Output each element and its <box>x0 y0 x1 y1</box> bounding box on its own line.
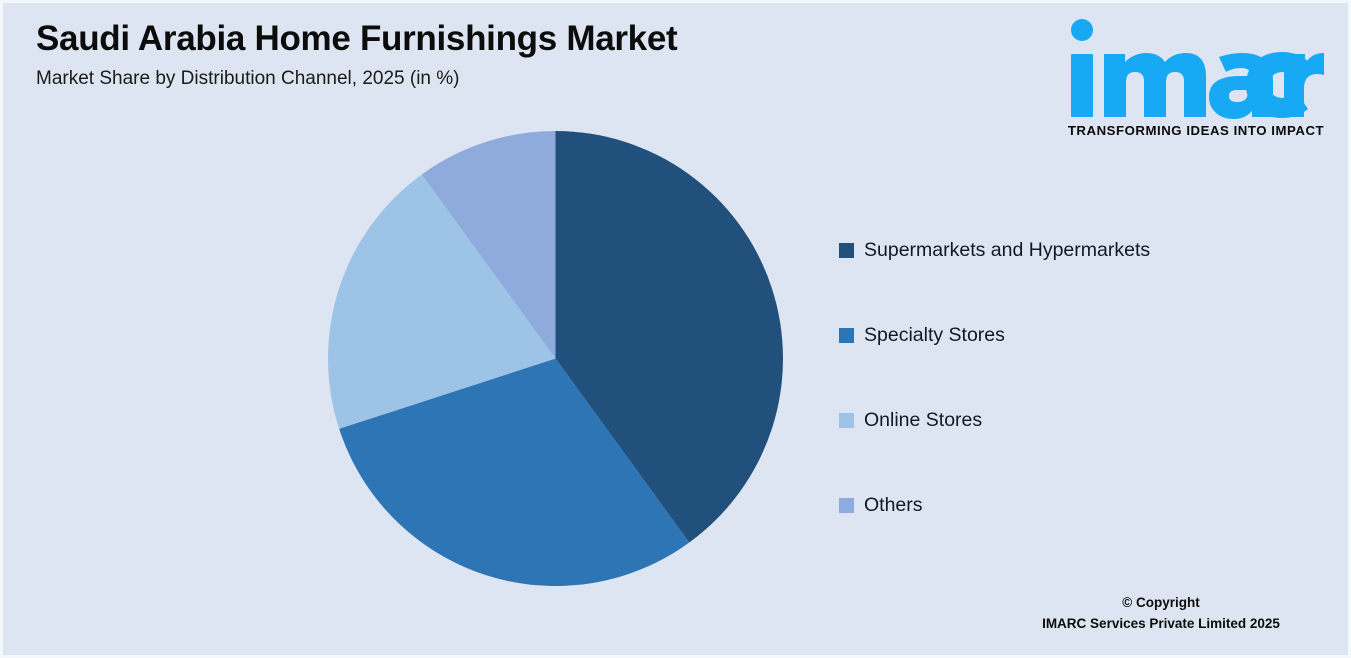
legend-swatch-icon <box>839 498 854 513</box>
legend-item-supermarkets-and-hypermarkets[interactable]: Supermarkets and Hypermarkets <box>839 208 1279 293</box>
copyright-footer: © Copyright IMARC Services Private Limit… <box>996 592 1326 635</box>
legend-item-others[interactable]: Others <box>839 463 1279 548</box>
page-title: Saudi Arabia Home Furnishings Market <box>36 19 836 58</box>
legend-swatch-icon <box>839 243 854 258</box>
legend-item-online-stores[interactable]: Online Stores <box>839 378 1279 463</box>
chart-legend: Supermarkets and Hypermarkets Specialty … <box>839 208 1279 548</box>
pie-chart-svg <box>328 131 783 586</box>
legend-label: Online Stores <box>864 411 982 431</box>
legend-item-specialty-stores[interactable]: Specialty Stores <box>839 293 1279 378</box>
pie-chart <box>328 131 783 586</box>
legend-label: Supermarkets and Hypermarkets <box>864 241 1150 261</box>
legend-label: Specialty Stores <box>864 326 1005 346</box>
pie-slice-group <box>328 131 783 586</box>
imarc-wordmark-icon <box>1060 17 1332 121</box>
imarc-tagline: TRANSFORMING IDEAS INTO IMPACT <box>1060 123 1332 138</box>
chart-subtitle: Market Share by Distribution Channel, 20… <box>36 68 836 91</box>
imarc-logo: TRANSFORMING IDEAS INTO IMPACT <box>1060 17 1332 138</box>
legend-label: Others <box>864 496 923 516</box>
chart-infographic: Saudi Arabia Home Furnishings Market Mar… <box>0 0 1351 658</box>
legend-swatch-icon <box>839 328 854 343</box>
company-line: IMARC Services Private Limited 2025 <box>996 613 1326 635</box>
chart-header: Saudi Arabia Home Furnishings Market Mar… <box>36 19 836 91</box>
copyright-line: © Copyright <box>996 592 1326 614</box>
legend-swatch-icon <box>839 413 854 428</box>
